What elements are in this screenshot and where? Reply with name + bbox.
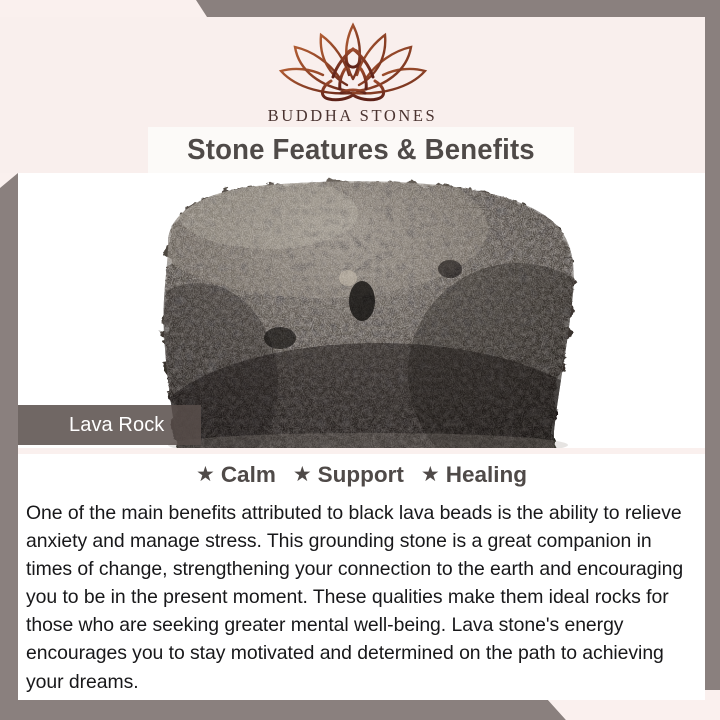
keyword-item: ★ Healing: [421, 462, 527, 488]
lava-rock-photo: Lava Rock: [18, 173, 705, 448]
photo-caption: Lava Rock: [18, 405, 201, 445]
star-icon: ★: [421, 464, 440, 485]
keyword-item: ★ Calm: [196, 462, 276, 488]
brand-logo: BUDDHA STONES: [0, 19, 705, 126]
photo-caption-label: Lava Rock: [18, 414, 164, 437]
keyword-label: Healing: [446, 462, 527, 488]
benefits-paragraph: One of the main benefits attributed to b…: [26, 499, 701, 696]
keyword-row: ★ Calm ★ Support ★ Healing: [18, 462, 705, 488]
stone-feature-poster: BUDDHA STONES Stone Features & Benefits: [0, 0, 720, 720]
divider-strip: [18, 448, 705, 454]
star-icon: ★: [293, 464, 312, 485]
keyword-label: Support: [318, 462, 404, 488]
star-icon: ★: [196, 464, 215, 485]
brand-name: BUDDHA STONES: [0, 106, 705, 126]
content-card: Lava Rock ★ Calm ★ Support ★ Healing: [18, 173, 705, 700]
page-title: Stone Features & Benefits: [187, 134, 535, 167]
lotus-meditation-icon: [269, 19, 437, 105]
benefits-section: ★ Calm ★ Support ★ Healing One of the ma…: [18, 448, 705, 700]
keyword-label: Calm: [221, 462, 276, 488]
section-title-banner: Stone Features & Benefits: [148, 127, 574, 173]
keyword-item: ★ Support: [293, 462, 404, 488]
